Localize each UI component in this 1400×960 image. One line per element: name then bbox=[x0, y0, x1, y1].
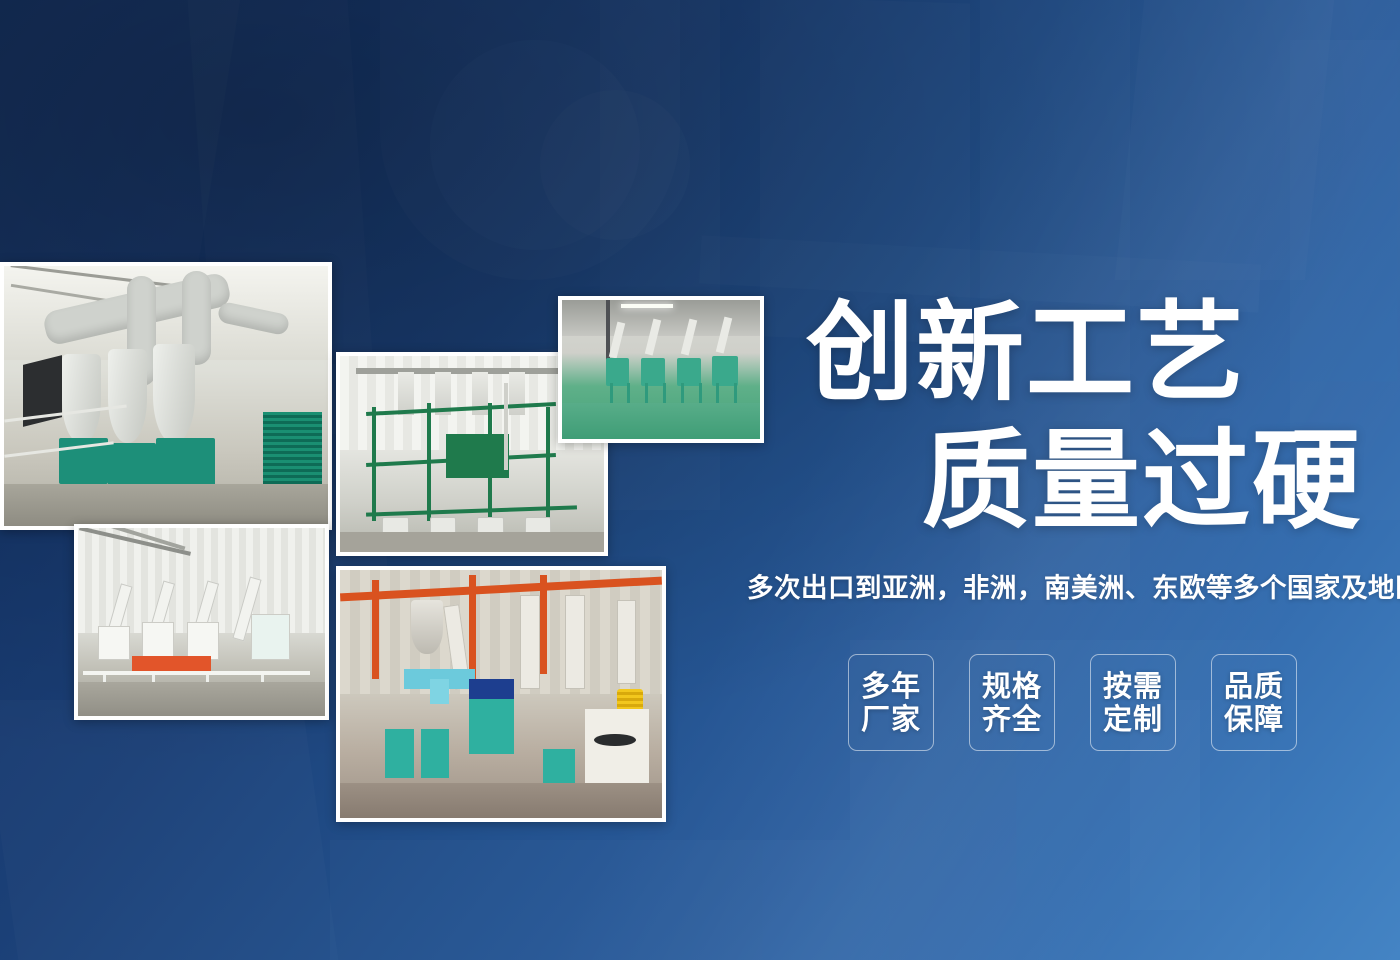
feature-badge-group: 多年 厂家 规格 齐全 按需 定制 品质 保障 bbox=[848, 654, 1297, 751]
product-photo-5 bbox=[336, 566, 666, 822]
feature-badge-3-line-2: 定制 bbox=[1103, 703, 1163, 735]
feature-badge-4[interactable]: 品质 保障 bbox=[1211, 654, 1297, 751]
product-photo-2 bbox=[74, 524, 329, 720]
product-photo-4 bbox=[558, 296, 764, 443]
feature-badge-1-line-2: 厂家 bbox=[861, 703, 921, 735]
feature-badge-4-line-2: 保障 bbox=[1224, 703, 1284, 735]
headline-line-1: 创新工艺 bbox=[806, 300, 1246, 408]
feature-badge-1-line-1: 多年 bbox=[861, 670, 921, 702]
product-photo-1 bbox=[0, 262, 332, 530]
promo-banner: 创新工艺 质量过硬 多次出口到亚洲，非洲，南美洲、东欧等多个国家及地区 多年 厂… bbox=[0, 0, 1400, 960]
headline-line-2: 质量过硬 bbox=[922, 428, 1362, 536]
feature-badge-2-line-2: 齐全 bbox=[982, 703, 1042, 735]
feature-badge-2[interactable]: 规格 齐全 bbox=[969, 654, 1055, 751]
feature-badge-3-line-1: 按需 bbox=[1103, 670, 1163, 702]
feature-badge-4-line-1: 品质 bbox=[1224, 670, 1284, 702]
feature-badge-1[interactable]: 多年 厂家 bbox=[848, 654, 934, 751]
feature-badge-2-line-1: 规格 bbox=[982, 670, 1042, 702]
feature-badge-3[interactable]: 按需 定制 bbox=[1090, 654, 1176, 751]
subtitle-text: 多次出口到亚洲，非洲，南美洲、东欧等多个国家及地区 bbox=[747, 566, 1397, 605]
